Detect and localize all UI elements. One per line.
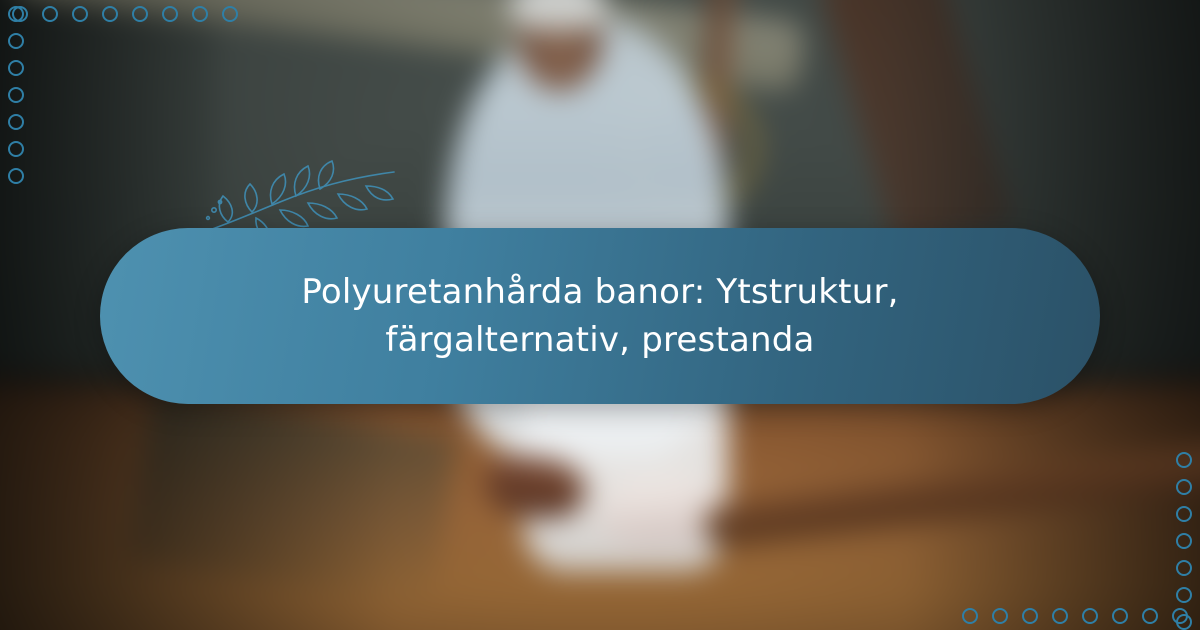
decor-dot-icon [962, 608, 978, 624]
decor-dot-icon [222, 6, 238, 22]
decor-dot-icon [1176, 452, 1192, 468]
decor-dot-icon [8, 6, 24, 22]
decor-dot-icon [102, 6, 118, 22]
decor-dots-bottom-right-row [962, 608, 1188, 624]
decor-dot-icon [1176, 560, 1192, 576]
decor-dot-icon [1052, 608, 1068, 624]
decor-dot-icon [42, 6, 58, 22]
decor-dot-icon [1172, 608, 1188, 624]
decor-dots-top-left-row [12, 6, 238, 22]
decor-dot-icon [8, 114, 24, 130]
decor-dot-icon [1112, 608, 1128, 624]
decor-dot-icon [192, 6, 208, 22]
decor-dots-left-column [8, 6, 24, 184]
decor-dot-icon [8, 33, 24, 49]
decor-dot-icon [1176, 533, 1192, 549]
decor-dot-icon [8, 87, 24, 103]
decor-dot-icon [1142, 608, 1158, 624]
banner-image: Polyuretanhårda banor: Ytstruktur, färga… [0, 0, 1200, 630]
decor-dot-icon [1176, 479, 1192, 495]
title-pill: Polyuretanhårda banor: Ytstruktur, färga… [100, 228, 1100, 404]
decor-dot-icon [8, 141, 24, 157]
decor-dot-icon [132, 6, 148, 22]
decor-dot-icon [1176, 587, 1192, 603]
decor-dots-right-column [1176, 452, 1192, 630]
page-title: Polyuretanhårda banor: Ytstruktur, färga… [260, 268, 940, 365]
decor-dot-icon [72, 6, 88, 22]
decor-dot-icon [162, 6, 178, 22]
decor-dot-icon [8, 168, 24, 184]
decor-dot-icon [1082, 608, 1098, 624]
decor-dot-icon [992, 608, 1008, 624]
decor-dot-icon [8, 60, 24, 76]
decor-dot-icon [1176, 506, 1192, 522]
decor-dot-icon [1022, 608, 1038, 624]
